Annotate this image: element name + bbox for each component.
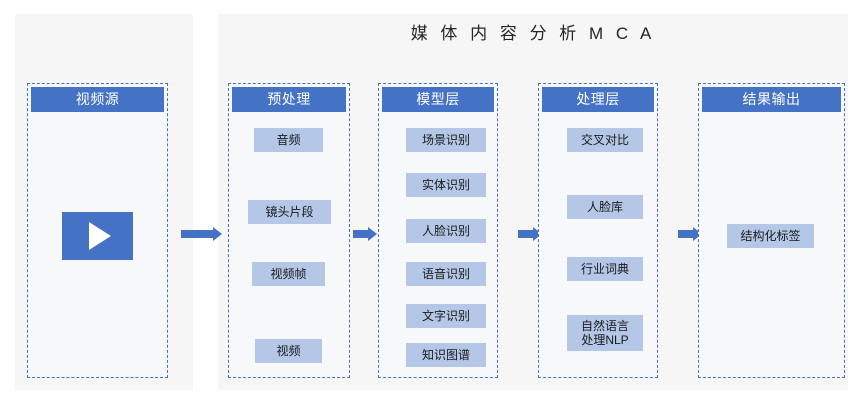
arrow-head bbox=[368, 227, 377, 241]
item-chip[interactable]: 人脸识别 bbox=[406, 219, 486, 243]
item-chip[interactable]: 交叉对比 bbox=[567, 128, 643, 152]
arrow-shaft bbox=[181, 230, 213, 238]
diagram-title: 媒 体 内 容 分 析 M C A bbox=[218, 19, 848, 44]
item-chip[interactable]: 实体识别 bbox=[406, 173, 486, 197]
item-chip[interactable]: 镜头片段 bbox=[248, 200, 331, 224]
item-chip[interactable]: 自然语言 处理NLP bbox=[567, 315, 643, 351]
item-chip[interactable]: 场景识别 bbox=[406, 128, 486, 152]
column-header-model-layer: 模型层 bbox=[382, 87, 494, 112]
item-chip[interactable]: 知识图谱 bbox=[406, 343, 486, 367]
arrow-shaft bbox=[353, 230, 368, 238]
item-chip[interactable]: 文字识别 bbox=[406, 304, 486, 328]
item-chip[interactable]: 结构化标签 bbox=[727, 224, 814, 248]
column-header-result-output: 结果输出 bbox=[702, 87, 841, 112]
column-header-processing-layer: 处理层 bbox=[542, 87, 654, 112]
item-chip[interactable]: 音频 bbox=[254, 128, 323, 152]
arrow-shaft bbox=[678, 230, 693, 238]
arrow-head bbox=[213, 227, 222, 241]
item-chip[interactable]: 视频帧 bbox=[252, 262, 325, 286]
play-triangle-shape bbox=[89, 222, 111, 250]
item-chip[interactable]: 视频 bbox=[255, 339, 322, 363]
item-chip[interactable]: 人脸库 bbox=[567, 195, 643, 219]
arrow-right-icon-preprocessing-to-model bbox=[353, 227, 377, 241]
item-chip[interactable]: 行业词典 bbox=[567, 257, 643, 281]
column-header-video-source: 视频源 bbox=[31, 87, 164, 112]
play-icon[interactable] bbox=[62, 212, 133, 260]
mca-flow-diagram: 媒 体 内 容 分 析 M C A 视频源 预处理 音频 镜头片段 视频帧 视频… bbox=[0, 0, 859, 411]
arrow-shaft bbox=[518, 230, 533, 238]
item-chip[interactable]: 语音识别 bbox=[406, 262, 486, 286]
column-header-preprocessing: 预处理 bbox=[232, 87, 346, 112]
arrow-right-icon-video-to-preprocessing bbox=[181, 227, 222, 241]
